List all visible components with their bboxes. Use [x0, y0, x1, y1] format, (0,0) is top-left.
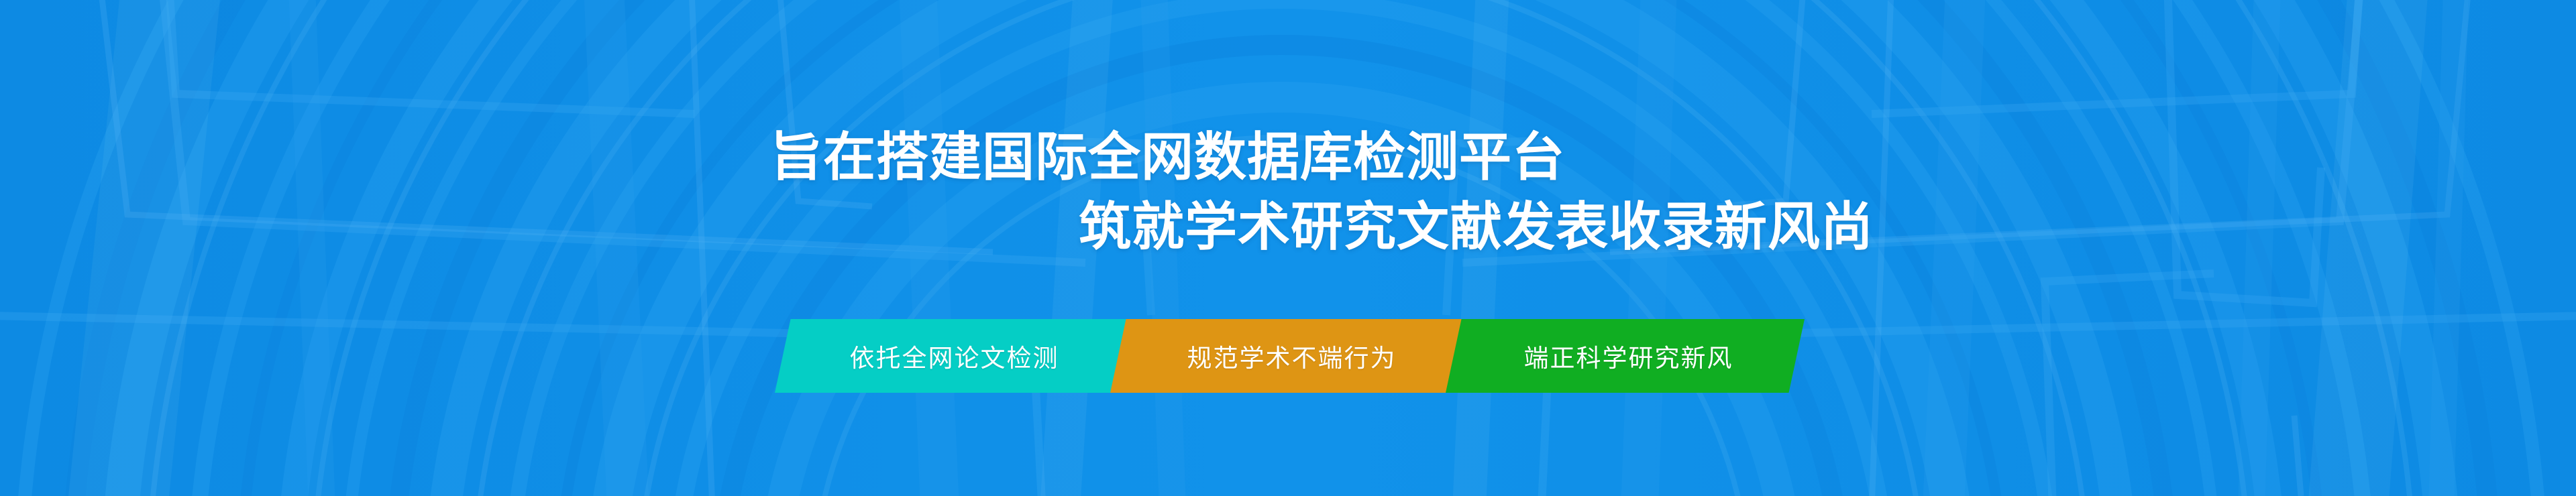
feature-badge-ethos[interactable]: 端正科学研究新风	[1446, 319, 1805, 393]
background-pattern	[0, 0, 2576, 496]
feature-badge-misconduct-label: 规范学术不端行为	[1187, 338, 1397, 374]
feature-badge-misconduct[interactable]: 规范学术不端行为	[1110, 319, 1469, 393]
feature-badge-ethos-label: 端正科学研究新风	[1524, 338, 1733, 374]
feature-badge-detection[interactable]: 依托全网论文检测	[775, 319, 1134, 393]
feature-badge-detection-label: 依托全网论文检测	[850, 338, 1059, 374]
feature-badge-strip: 依托全网论文检测 规范学术不端行为 端正科学研究新风	[775, 319, 1805, 393]
banner-root: 旨在搭建国际全网数据库检测平台 筑就学术研究文献发表收录新风尚 依托全网论文检测…	[0, 0, 2576, 496]
